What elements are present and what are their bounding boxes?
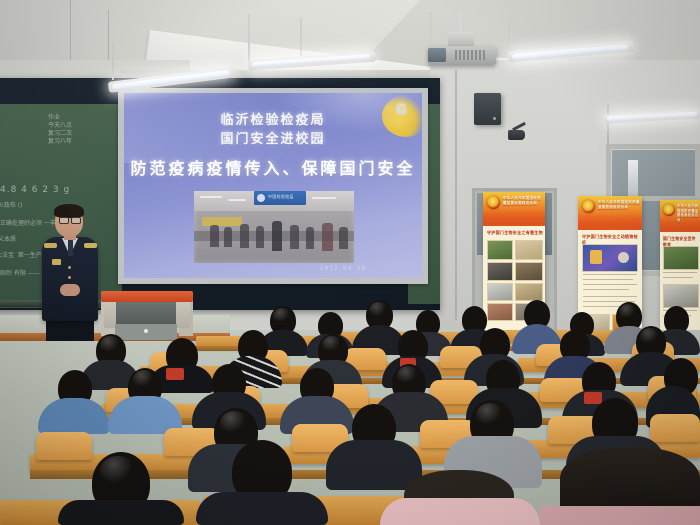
photo-person <box>224 227 232 247</box>
hair-highlight <box>100 336 120 354</box>
projector-lens-icon <box>428 48 446 62</box>
slide-embedded-photo: 中国检验检疫 <box>194 191 354 263</box>
presenter-hair <box>54 204 84 218</box>
banner-wave <box>578 213 642 230</box>
presenter-badge <box>52 259 61 265</box>
presenter-tie <box>68 240 73 256</box>
banner-emblem-icon <box>663 204 675 216</box>
photo-person <box>272 221 282 251</box>
presenter-button <box>68 276 71 279</box>
lectern-top <box>101 291 193 302</box>
seat-back <box>650 414 700 442</box>
banner-thumbnail <box>663 246 699 270</box>
banner-thumbnail <box>487 262 513 281</box>
chalk-line-4: 两大法宝 第一生产力 <box>0 252 48 260</box>
light-rod <box>248 14 250 62</box>
banner-wave <box>483 209 545 226</box>
banner-emblem-icon <box>487 196 500 209</box>
light-rod <box>508 20 510 50</box>
lectern-indicator-icon <box>144 329 148 333</box>
presenter-epaulette-left <box>44 243 57 248</box>
banner-title-text: 守护国门生物安全之有害生物 <box>487 230 543 236</box>
banner-thumbnail <box>487 283 513 301</box>
hair-highlight <box>640 328 660 345</box>
wall-speaker <box>474 93 501 125</box>
chalk-line-1: 十 火政布 () <box>0 202 23 210</box>
photo-lamp <box>228 199 246 201</box>
red-neckerchief <box>166 368 184 380</box>
audience-body-foreground <box>380 498 540 525</box>
photo-lamp <box>200 196 222 198</box>
projection-screen: G 临沂检验检疫局 国门安全进校园 防范疫病疫情传入、保障国门安全 中国检验检疫… <box>124 93 422 278</box>
photo-person <box>256 226 264 248</box>
banner-graphic-icon <box>590 250 602 264</box>
audience-body-foreground <box>196 492 328 525</box>
banner-text-line <box>663 272 697 273</box>
chalk-text-upper: 作业 今天八点 复习二次 复习八年 <box>48 114 72 146</box>
banner-wave <box>660 216 700 232</box>
hair-highlight <box>397 366 419 385</box>
banner-thumbnail <box>487 303 513 321</box>
banner-graphic-icon <box>618 252 629 263</box>
light-rod <box>112 42 114 80</box>
photo-person <box>290 225 299 249</box>
presenter-epaulette-right <box>84 243 97 248</box>
screen-hotspot <box>274 93 422 133</box>
slide-date-stamp: 2017 04 18 <box>320 265 366 272</box>
presenter-glasses-right <box>71 217 81 224</box>
banner-text-line <box>583 274 637 275</box>
banner-text-line <box>663 277 693 278</box>
projector-vent <box>455 50 485 60</box>
banner-thumbnail <box>515 262 543 281</box>
lecture-hall-photo: 作业 今天八点 复习二次 复习八年 、4.8 4 6 2 3 g 十 火政布 (… <box>0 0 700 525</box>
security-camera-icon <box>508 130 525 140</box>
hair-highlight <box>133 370 155 389</box>
banner-header-text: 中华人民共和国国家质量监督检验检疫总局 <box>598 200 640 210</box>
presenter-button <box>68 266 71 269</box>
banner-emblem-icon <box>582 200 595 213</box>
photo-person <box>210 225 219 247</box>
photo-yellow-board <box>202 217 242 226</box>
hair-highlight <box>100 456 136 486</box>
photo-person <box>240 224 249 248</box>
presenter-hands <box>60 284 80 296</box>
banner-thumbnail <box>515 240 543 260</box>
audience-body-foreground <box>540 506 700 525</box>
chalk-line-3: 主义本质 <box>0 236 16 244</box>
hair-highlight <box>476 403 504 427</box>
hair-highlight <box>619 304 637 320</box>
photo-person <box>339 227 348 249</box>
lectern-panel <box>116 302 176 324</box>
presenter-glasses-left <box>59 217 69 224</box>
banner-thumbnail <box>663 284 699 308</box>
red-neckerchief <box>584 392 602 404</box>
banner-header-text: 中华人民共和国国家质量监督检验检疫总局 <box>503 196 543 206</box>
banner-text-line <box>583 279 633 280</box>
audience-body <box>326 440 422 490</box>
photo-sign-logo-icon <box>257 194 265 202</box>
hair-highlight <box>220 411 248 435</box>
banner-thumbnail <box>515 283 543 301</box>
hair-highlight <box>369 302 388 318</box>
seat-back <box>36 432 92 460</box>
presenter-legs <box>46 319 94 341</box>
wall-seam <box>455 70 457 320</box>
banner-text-line <box>583 284 637 285</box>
banner-text-line <box>583 296 637 297</box>
audience-body-foreground <box>58 500 184 525</box>
hair-highlight <box>322 336 342 353</box>
banner-text-line <box>583 289 629 290</box>
banner-thumbnail <box>487 240 513 260</box>
speaker-indicator-icon <box>493 117 496 120</box>
blackboard-upper: 作业 今天八点 复习二次 复习八年 <box>0 104 122 196</box>
hair-highlight <box>273 308 291 324</box>
photo-person <box>306 227 314 249</box>
photo-sign-text: 中国检验检疫 <box>268 194 294 200</box>
chalk-formula: 、4.8 4 6 2 3 g <box>0 186 70 194</box>
photo-person <box>322 223 333 251</box>
photo-lamp <box>312 197 336 199</box>
